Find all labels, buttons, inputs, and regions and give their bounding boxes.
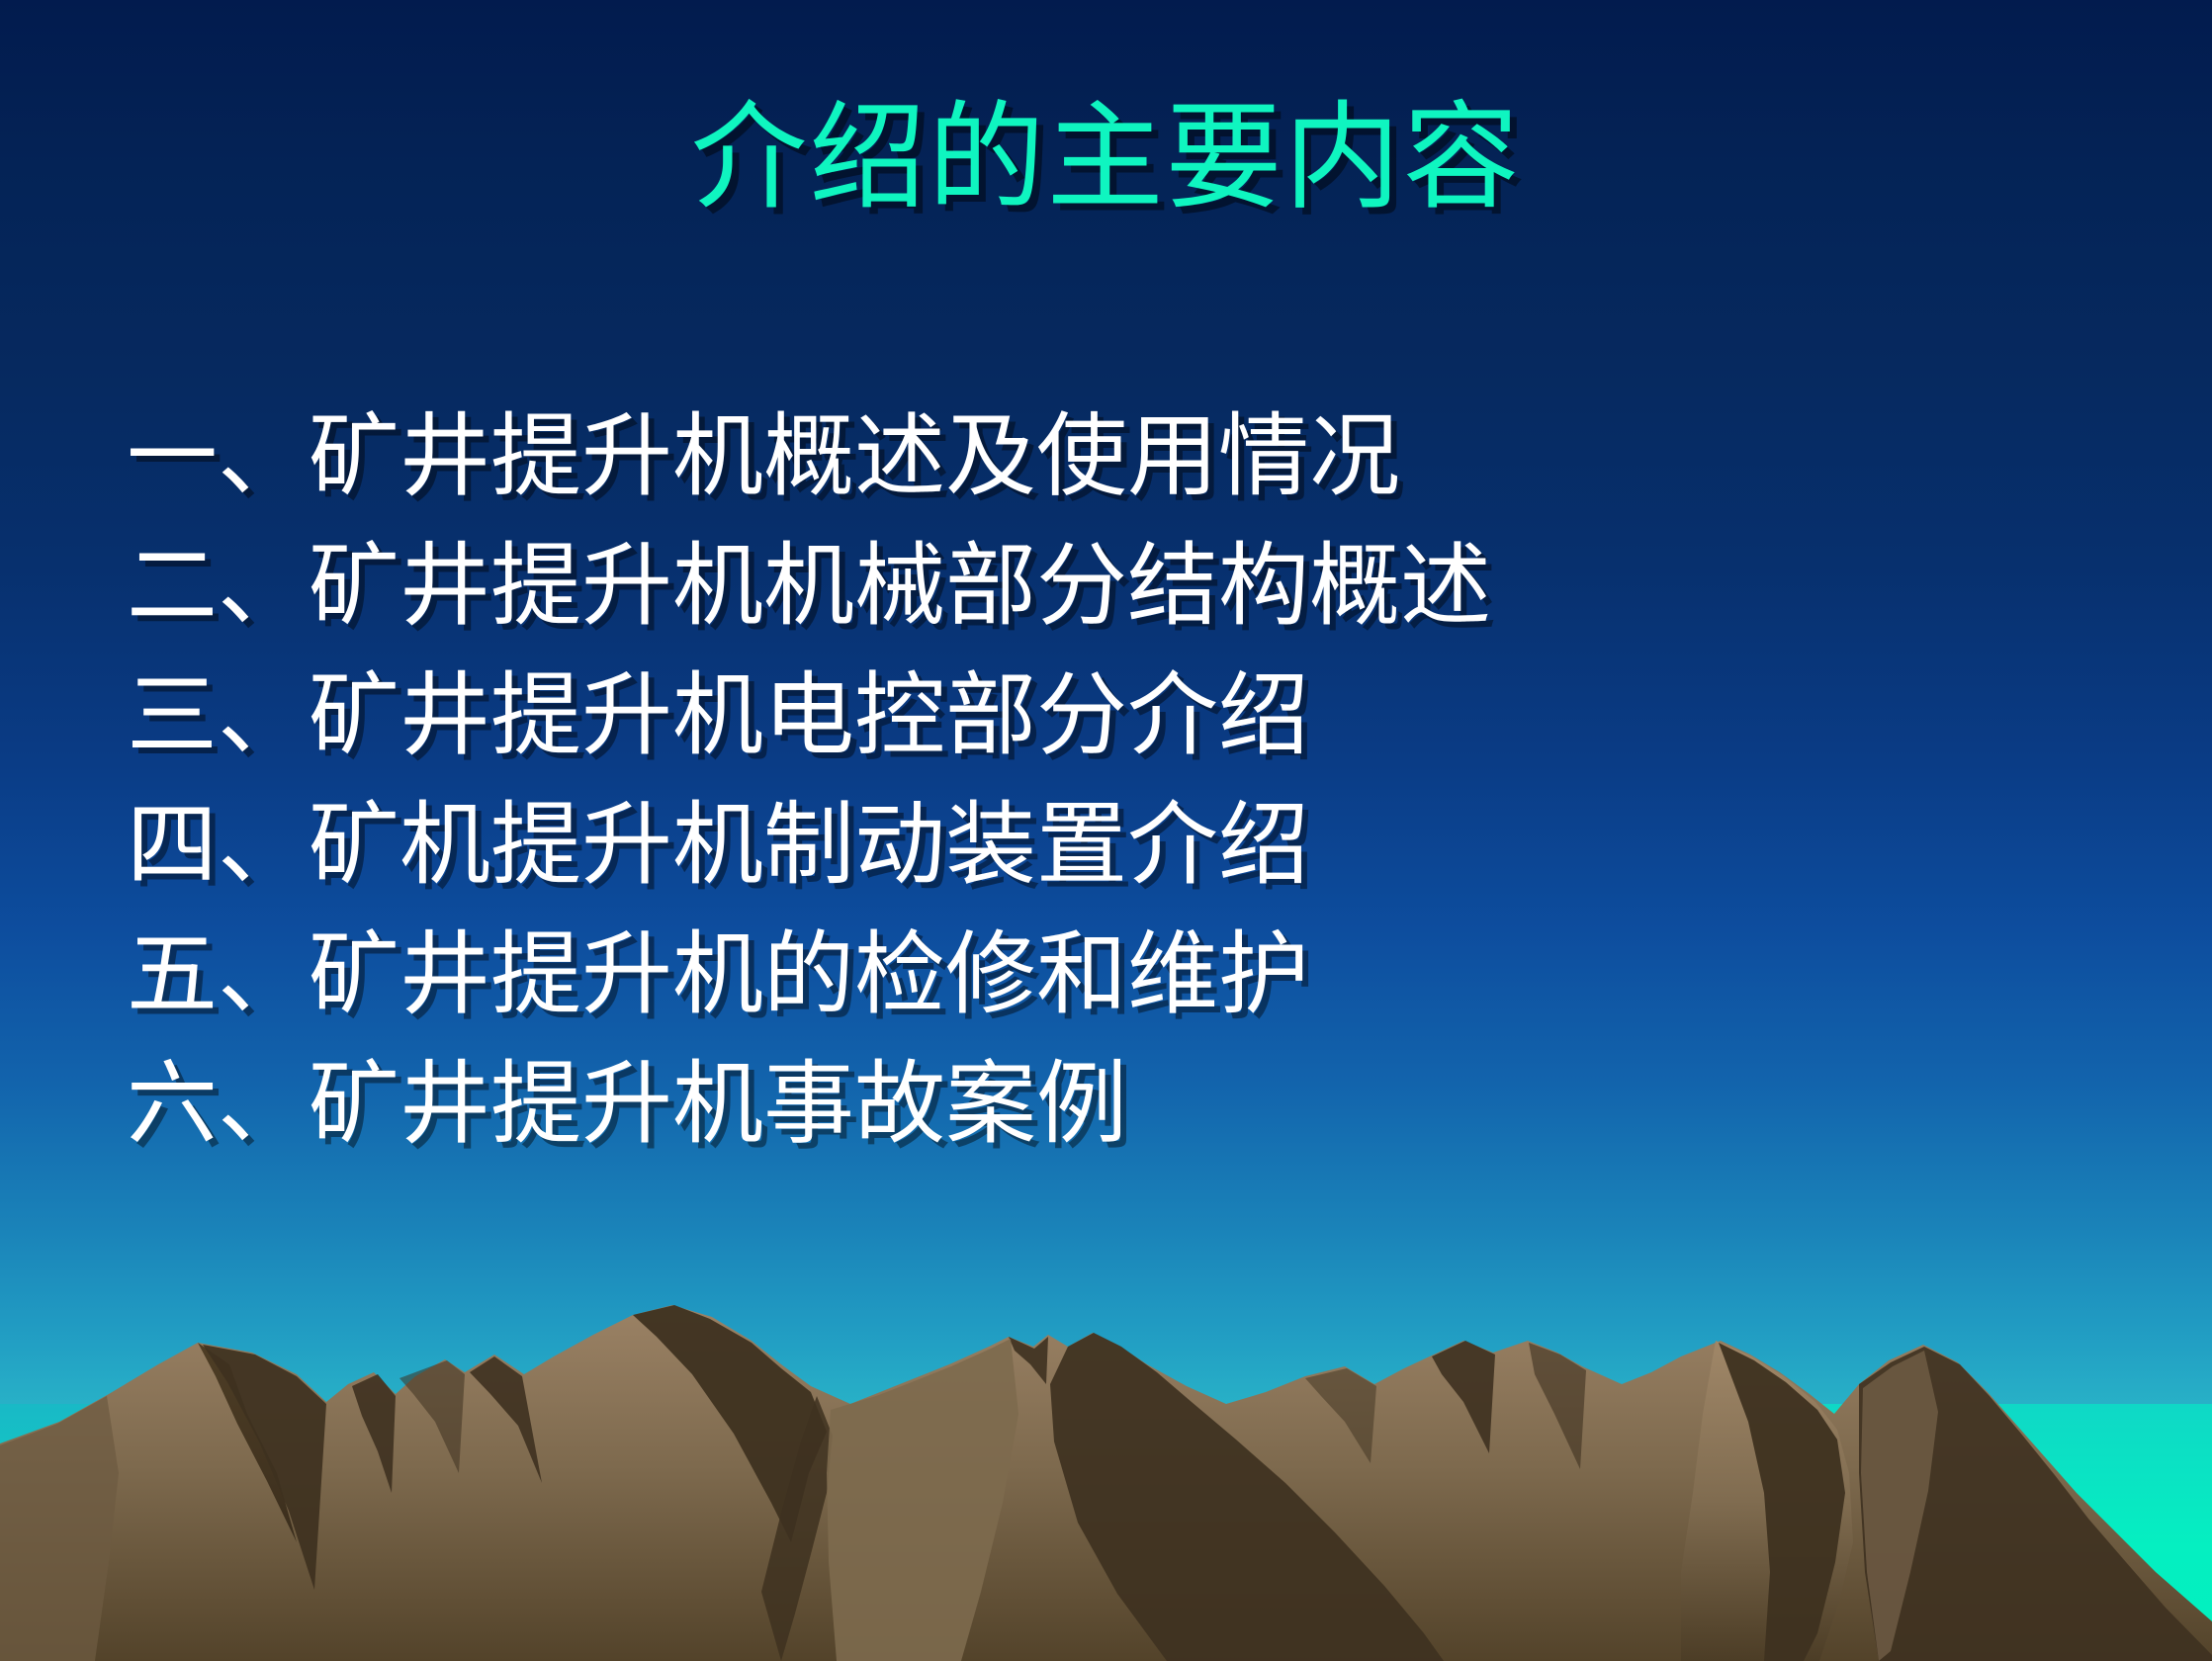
mountain-silhouette-graphic: [0, 1246, 2212, 1661]
list-item: 三、矿井提升机电控部分介绍: [127, 670, 2153, 761]
list-item: 一、矿井提升机概述及使用情况: [127, 411, 2153, 502]
list-item: 四、矿机提升机制动装置介绍: [127, 800, 2153, 891]
slide-title: 介绍的主要内容: [0, 91, 2212, 225]
list-item: 五、矿井提升机的检修和维护: [127, 929, 2153, 1020]
list-item: 二、矿井提升机机械部分结构概述: [127, 541, 2153, 632]
slide-content-list: 一、矿井提升机概述及使用情况 二、矿井提升机机械部分结构概述 三、矿井提升机电控…: [127, 411, 2153, 1150]
list-item: 六、矿井提升机事故案例: [127, 1059, 2153, 1150]
presentation-slide: 介绍的主要内容 一、矿井提升机概述及使用情况 二、矿井提升机机械部分结构概述 三…: [0, 0, 2212, 1661]
